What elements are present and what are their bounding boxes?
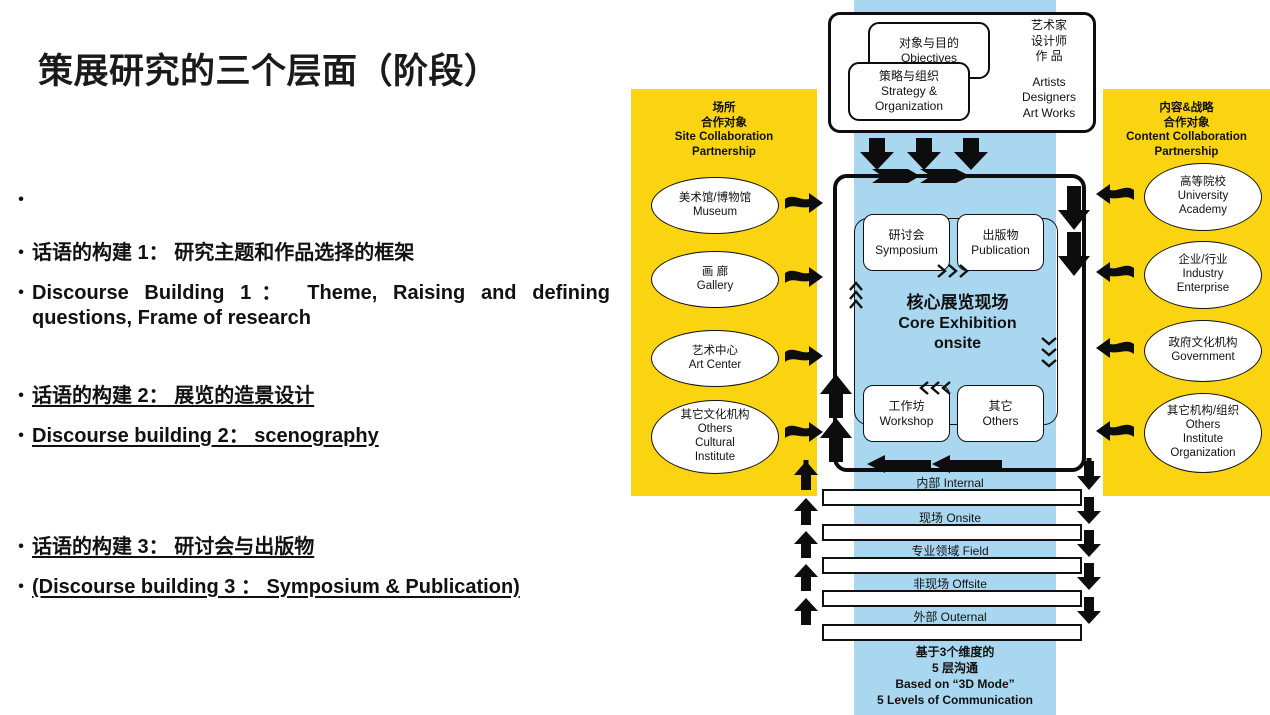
artists-designers-artworks-label: 艺术家 设计师 作 品 Artists Designers Art Works bbox=[998, 18, 1100, 122]
slide-canvas: 策展研究的三个层面（阶段） • • 话语的构建 1： 研究主题和作品选择的框架 … bbox=[0, 0, 1270, 715]
bullet-dot-icon: • bbox=[10, 384, 32, 407]
oval-government[interactable]: 政府文化机构 Government bbox=[1144, 320, 1262, 382]
list-item: • (Discourse building 3 ： Symposium & Pu… bbox=[10, 575, 610, 601]
box-objectives-cn: 对象与目的 bbox=[899, 36, 959, 50]
oval-others-org-en1: Others bbox=[1167, 419, 1239, 433]
bullet-text: Discourse Building 1： Theme, Raising and… bbox=[32, 281, 610, 332]
right-panel-heading-cn1: 内容&战略 bbox=[1159, 102, 1213, 114]
box-strategy-cn: 策略与组织 bbox=[879, 69, 939, 83]
artists-cn2: 设计师 bbox=[1031, 34, 1067, 48]
layer-bar-outernal bbox=[822, 624, 1082, 641]
box-publication-cn: 出版物 bbox=[982, 228, 1018, 242]
oval-museum-en: Museum bbox=[679, 206, 751, 220]
oval-gallery-en: Gallery bbox=[697, 280, 733, 294]
caption-en1: Based on “3D Mode” bbox=[895, 677, 1014, 691]
oval-others-cultural-institute[interactable]: 其它文化机构 Others Cultural Institute bbox=[651, 400, 779, 474]
artists-en2: Designers bbox=[1022, 90, 1076, 104]
oval-others-cultural-en2: Cultural bbox=[681, 437, 750, 451]
page-title: 策展研究的三个层面（阶段） bbox=[38, 43, 500, 94]
oval-others-cultural-cn: 其它文化机构 bbox=[681, 409, 750, 423]
diagram-caption: 基于3个维度的 5 层沟通 Based on “3D Mode” 5 Level… bbox=[850, 645, 1060, 709]
left-panel-heading-cn1: 场所 bbox=[713, 102, 736, 114]
box-symposium-cn: 研讨会 bbox=[888, 228, 924, 242]
box-symposium-en: Symposium bbox=[875, 243, 938, 257]
oval-university-academy[interactable]: 高等院校 University Academy bbox=[1144, 163, 1262, 231]
artists-en1: Artists bbox=[1032, 75, 1065, 89]
box-workshop-en: Workshop bbox=[880, 414, 934, 428]
core-label-en1: Core Exhibition bbox=[898, 315, 1016, 332]
artists-cn1: 艺术家 bbox=[1031, 18, 1067, 32]
oval-university-cn: 高等院校 bbox=[1178, 176, 1228, 190]
bullet-dot-icon: • bbox=[10, 424, 32, 447]
left-panel-heading-cn2: 合作对象 bbox=[701, 117, 747, 129]
bullet-dot-icon: • bbox=[10, 188, 32, 211]
layer-bar-field bbox=[822, 557, 1082, 574]
bullet-text: 话语的构建 1： 研究主题和作品选择的框架 bbox=[32, 241, 610, 267]
list-item: • 话语的构建 3： 研讨会与出版物 bbox=[10, 535, 610, 561]
bullet-dot-icon: • bbox=[10, 535, 32, 558]
oval-government-en: Government bbox=[1169, 351, 1238, 365]
bullet-group-1: • 话语的构建 1： 研究主题和作品选择的框架 • Discourse Buil… bbox=[10, 241, 610, 332]
list-item: • bbox=[10, 188, 610, 211]
right-panel-heading-en2: Partnership bbox=[1155, 146, 1219, 158]
layer-bar-internal bbox=[822, 489, 1082, 506]
oval-government-cn: 政府文化机构 bbox=[1169, 337, 1238, 351]
core-exhibition-label: 核心展览现场 Core Exhibition onsite bbox=[865, 292, 1050, 354]
layer-bar-onsite bbox=[822, 524, 1082, 541]
oval-industry-en1: Industry bbox=[1177, 268, 1229, 282]
left-panel-heading-en2: Partnership bbox=[692, 146, 756, 158]
oval-art-center[interactable]: 艺术中心 Art Center bbox=[651, 330, 779, 387]
bullet-text: 话语的构建 3： 研讨会与出版物 bbox=[32, 535, 610, 561]
caption-cn1: 基于3个维度的 bbox=[916, 645, 995, 659]
box-strategy-en2: Organization bbox=[875, 99, 943, 113]
right-panel-heading: 内容&战略 合作对象 Content Collaboration Partner… bbox=[1103, 101, 1270, 160]
oval-others-cultural-en3: Institute bbox=[681, 451, 750, 465]
oval-others-org-en3: Organization bbox=[1167, 447, 1239, 461]
core-label-cn: 核心展览现场 bbox=[907, 293, 1009, 312]
oval-museum[interactable]: 美术馆/博物馆 Museum bbox=[651, 177, 779, 234]
bullet-group-empty: • bbox=[10, 188, 610, 211]
bullet-group-3: • 话语的构建 3： 研讨会与出版物 • (Discourse building… bbox=[10, 535, 610, 600]
box-workshop-cn: 工作坊 bbox=[888, 399, 924, 413]
oval-university-en2: Academy bbox=[1178, 204, 1228, 218]
caption-en2: 5 Levels of Communication bbox=[877, 693, 1033, 707]
box-others-cn: 其它 bbox=[988, 399, 1012, 413]
oval-industry-en2: Enterprise bbox=[1177, 282, 1229, 296]
layer-bar-offsite bbox=[822, 590, 1082, 607]
box-workshop[interactable]: 工作坊 Workshop bbox=[863, 385, 950, 442]
bullet-dot-icon: • bbox=[10, 575, 32, 598]
core-label-en2: onsite bbox=[934, 335, 981, 352]
box-strategy-en1: Strategy & bbox=[881, 84, 937, 98]
curatorial-research-diagram: 场所 合作对象 Site Collaboration Partnership 美… bbox=[620, 0, 1270, 715]
text-column: 策展研究的三个层面（阶段） • • 话语的构建 1： 研究主题和作品选择的框架 … bbox=[0, 0, 620, 715]
box-strategy-organization[interactable]: 策略与组织 Strategy & Organization bbox=[848, 62, 970, 121]
bullet-text: Discourse building 2： scenography bbox=[32, 424, 610, 450]
right-panel-heading-cn2: 合作对象 bbox=[1164, 117, 1210, 129]
oval-university-en1: University bbox=[1178, 190, 1228, 204]
artists-en3: Art Works bbox=[1023, 106, 1075, 120]
oval-others-cultural-en1: Others bbox=[681, 423, 750, 437]
oval-others-org-cn: 其它机构/组织 bbox=[1167, 405, 1239, 419]
layer-label-outernal: 外部 Outernal bbox=[822, 608, 1078, 625]
box-publication-en: Publication bbox=[971, 243, 1030, 257]
box-others[interactable]: 其它 Others bbox=[957, 385, 1044, 442]
bullet-list: • • 话语的构建 1： 研究主题和作品选择的框架 • Discourse Bu… bbox=[10, 188, 610, 600]
oval-others-org-en2: Institute bbox=[1167, 433, 1239, 447]
oval-gallery-cn: 画 廊 bbox=[697, 266, 733, 280]
box-others-en: Others bbox=[982, 414, 1018, 428]
bullet-dot-icon: • bbox=[10, 281, 32, 304]
oval-industry-cn: 企业/行业 bbox=[1177, 254, 1229, 268]
bullet-text: 话语的构建 2： 展览的造景设计 bbox=[32, 384, 610, 410]
bullet-group-2: • 话语的构建 2： 展览的造景设计 • Discourse building … bbox=[10, 384, 610, 449]
box-symposium[interactable]: 研讨会 Symposium bbox=[863, 214, 950, 271]
list-item: • Discourse building 2： scenography bbox=[10, 424, 610, 450]
oval-others-institute-organization[interactable]: 其它机构/组织 Others Institute Organization bbox=[1144, 393, 1262, 473]
left-panel-heading-en1: Site Collaboration bbox=[675, 131, 773, 143]
oval-industry-enterprise[interactable]: 企业/行业 Industry Enterprise bbox=[1144, 241, 1262, 309]
oval-art-center-en: Art Center bbox=[689, 359, 741, 373]
bullet-dot-icon: • bbox=[10, 241, 32, 264]
bullet-text: (Discourse building 3 ： Symposium & Publ… bbox=[32, 575, 610, 601]
list-item: • 话语的构建 1： 研究主题和作品选择的框架 bbox=[10, 241, 610, 267]
caption-cn2: 5 层沟通 bbox=[932, 661, 978, 675]
oval-gallery[interactable]: 画 廊 Gallery bbox=[651, 251, 779, 308]
oval-art-center-cn: 艺术中心 bbox=[689, 345, 741, 359]
box-publication[interactable]: 出版物 Publication bbox=[957, 214, 1044, 271]
list-item: • 话语的构建 2： 展览的造景设计 bbox=[10, 384, 610, 410]
oval-museum-cn: 美术馆/博物馆 bbox=[679, 192, 751, 206]
right-panel-heading-en1: Content Collaboration bbox=[1126, 131, 1247, 143]
list-item: • Discourse Building 1： Theme, Raising a… bbox=[10, 281, 610, 332]
artists-cn3: 作 品 bbox=[1035, 49, 1062, 63]
left-panel-heading: 场所 合作对象 Site Collaboration Partnership bbox=[631, 101, 817, 160]
